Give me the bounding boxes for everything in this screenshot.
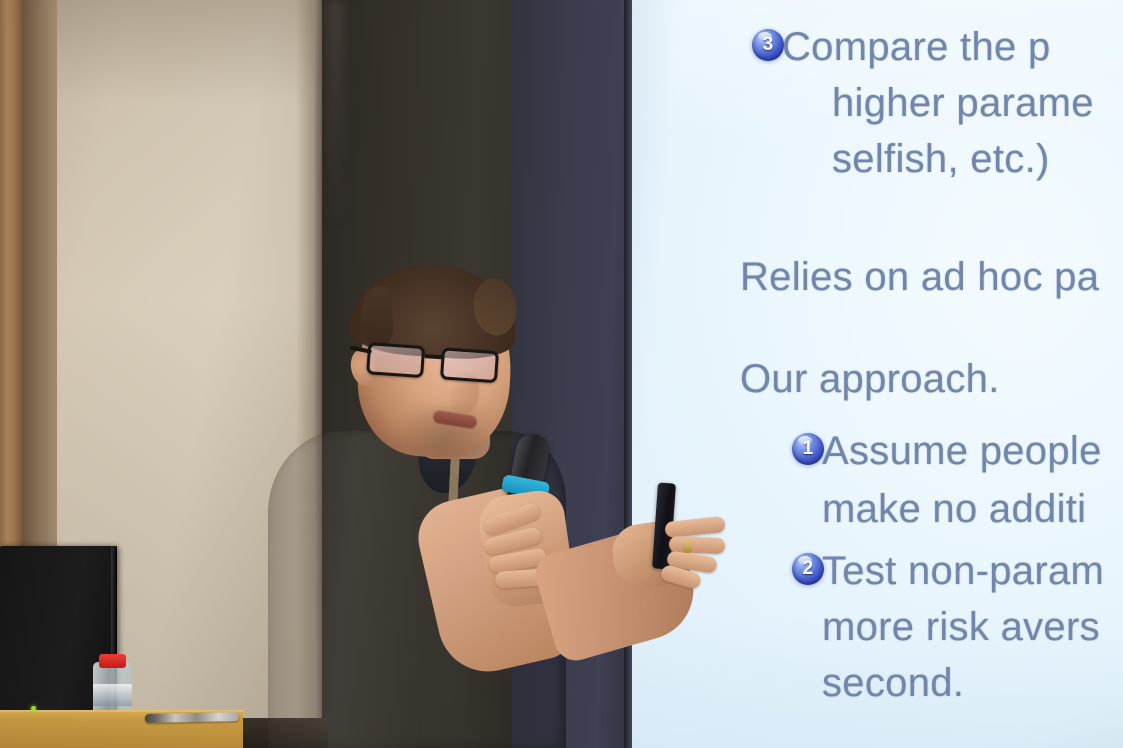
slide-line: make no additi <box>822 478 1086 540</box>
presenter <box>255 265 725 748</box>
slide-line: Relies on ad hoc pa <box>740 246 1099 308</box>
slide-line: Test non-param <box>822 540 1104 602</box>
hand-right <box>613 497 725 589</box>
slide-bullet-1: 1 <box>792 433 824 465</box>
presentation-photo: 3Compare the phigher parameselfish, etc.… <box>0 0 1123 748</box>
bottle-label <box>93 684 132 706</box>
bottle-cap <box>99 654 126 668</box>
slide-bullet-3: 3 <box>752 29 784 61</box>
slide-line: Assume people <box>822 420 1102 482</box>
power-led-icon <box>31 706 36 711</box>
ring <box>682 541 692 554</box>
lens-right <box>440 347 499 383</box>
slide-bullet-2: 2 <box>792 553 824 585</box>
slide-line: more risk avers <box>822 596 1100 658</box>
slide-line: selfish, etc.) <box>832 128 1050 190</box>
slide-line: Our approach. <box>740 348 1000 410</box>
finger <box>664 516 725 538</box>
slide-line: higher parame <box>832 72 1094 134</box>
glasses-bridge <box>424 354 443 359</box>
slide-line: Compare the p <box>782 16 1051 78</box>
slide-line: second. <box>822 652 964 714</box>
lens-left <box>366 342 425 378</box>
